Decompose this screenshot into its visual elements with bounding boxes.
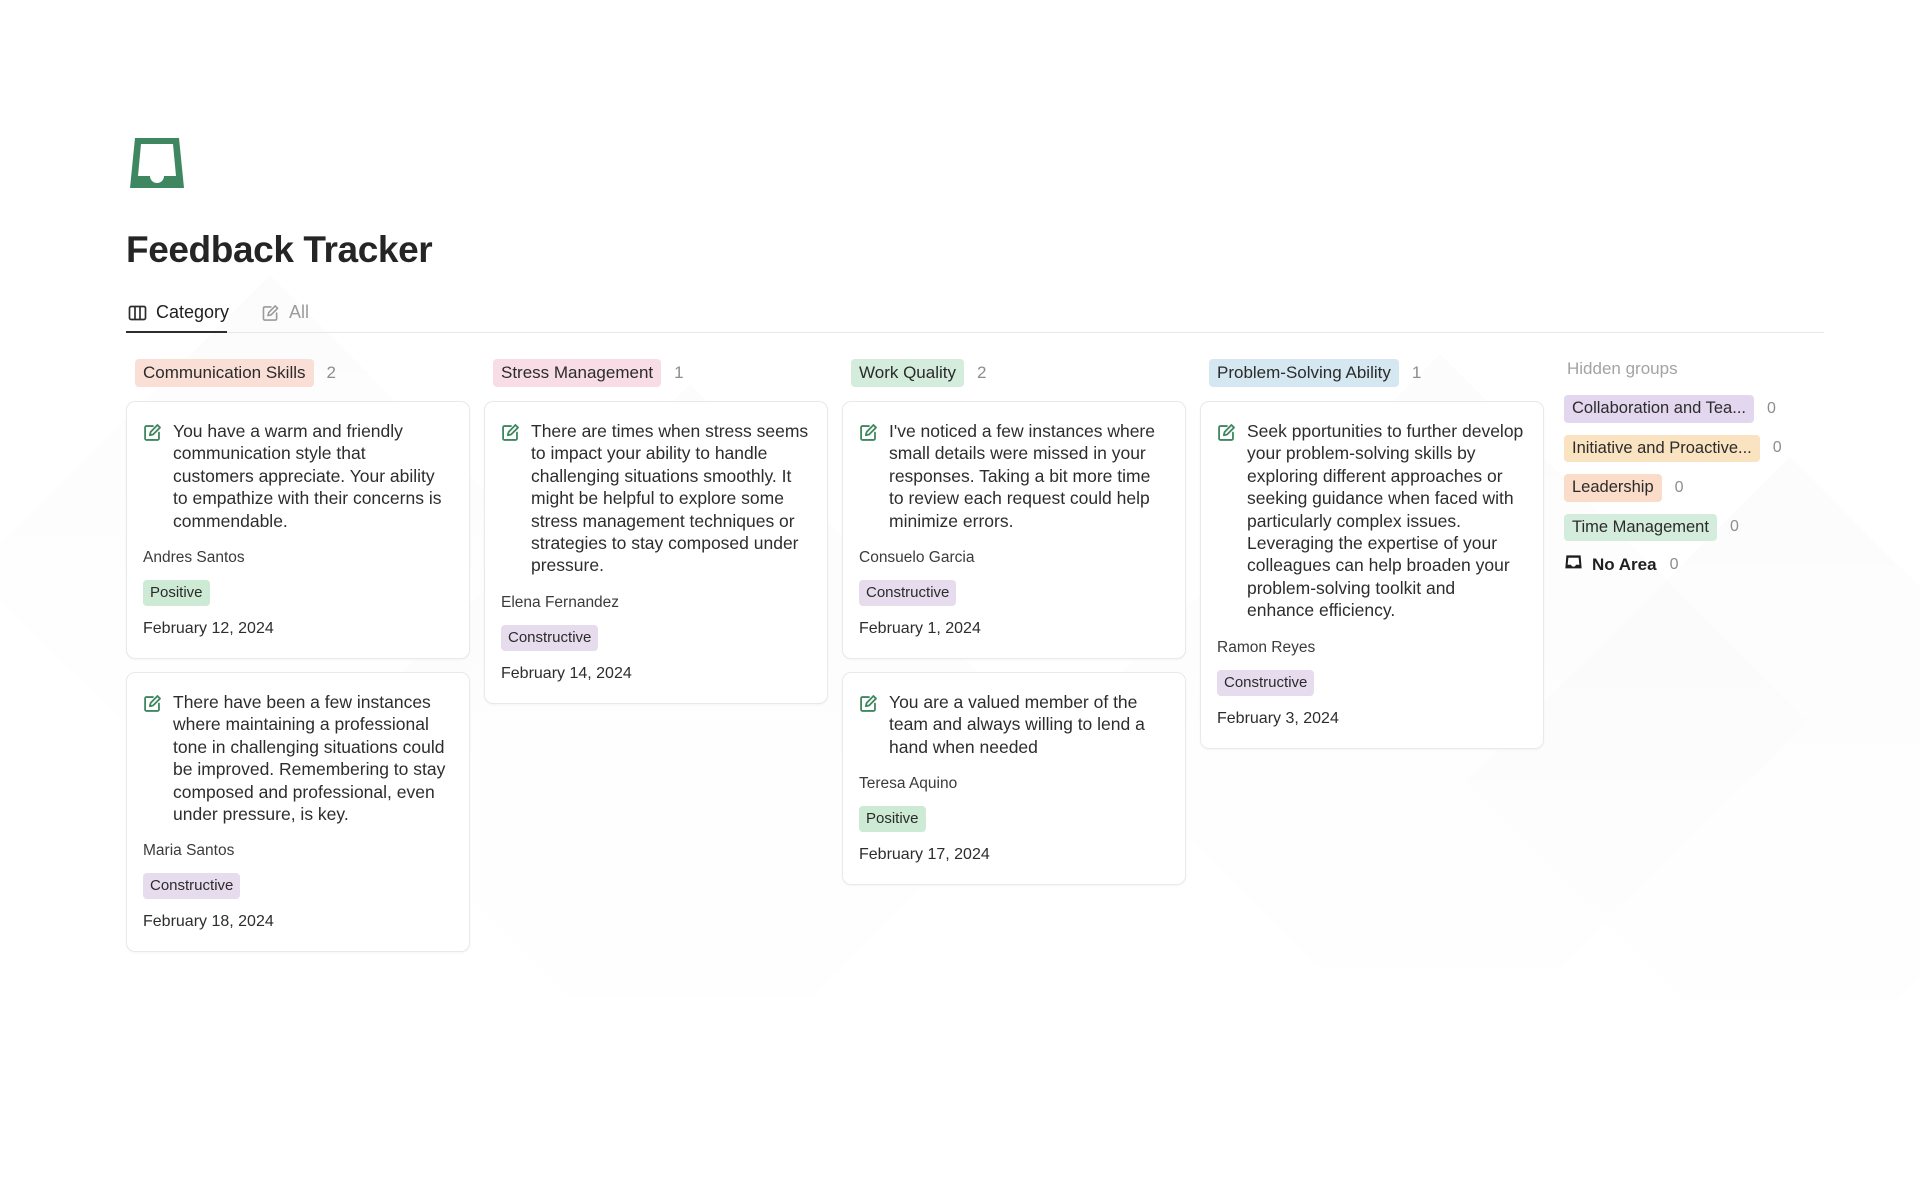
hidden-group-count: 0 <box>1773 439 1782 457</box>
edit-note-icon <box>143 694 162 718</box>
card-date: February 3, 2024 <box>1217 710 1525 728</box>
hidden-group-count: 0 <box>1767 400 1776 418</box>
inbox-icon <box>1564 553 1583 576</box>
column-name-chip: Problem-Solving Ability <box>1209 359 1399 387</box>
board-column: Communication Skills2You have a warm and… <box>126 359 484 965</box>
card-author: Maria Santos <box>143 842 451 860</box>
page-title: Feedback Tracker <box>126 229 1920 271</box>
hidden-group-count: 0 <box>1730 518 1739 536</box>
edit-note-icon <box>143 423 162 447</box>
tab-category-label: Category <box>156 302 229 323</box>
column-header[interactable]: Work Quality2 <box>842 359 1186 387</box>
card-main: Seek pportunities to further develop you… <box>1217 420 1525 622</box>
board-column: Stress Management1There are times when s… <box>484 359 842 717</box>
card-date: February 17, 2024 <box>859 846 1167 864</box>
card-sentiment-badge: Constructive <box>859 580 956 606</box>
card-author: Teresa Aquino <box>859 775 1167 793</box>
card-main: There have been a few instances where ma… <box>143 691 451 825</box>
hidden-group-chip: Collaboration and Tea... <box>1564 395 1754 423</box>
edit-note-icon <box>261 304 280 322</box>
card-text: There are times when stress seems to imp… <box>531 420 809 577</box>
card-main: You have a warm and friendly communicati… <box>143 420 451 532</box>
column-count: 1 <box>1412 363 1421 383</box>
tab-all-label: All <box>289 302 309 323</box>
card-author: Elena Fernandez <box>501 594 809 612</box>
card-main: There are times when stress seems to imp… <box>501 420 809 577</box>
card-sentiment-badge: Constructive <box>501 625 598 651</box>
feedback-card[interactable]: You have a warm and friendly communicati… <box>126 401 470 659</box>
edit-note-icon <box>501 423 520 447</box>
card-text: I've noticed a few instances where small… <box>889 420 1167 532</box>
no-area-count: 0 <box>1670 556 1679 574</box>
hidden-groups-title: Hidden groups <box>1564 359 1888 379</box>
column-header[interactable]: Problem-Solving Ability1 <box>1200 359 1544 387</box>
edit-note-icon <box>859 694 878 718</box>
feedback-card[interactable]: There are times when stress seems to imp… <box>484 401 828 704</box>
card-date: February 1, 2024 <box>859 620 1167 638</box>
edit-note-icon <box>859 423 878 447</box>
column-count: 2 <box>327 363 336 383</box>
card-sentiment-badge: Constructive <box>1217 670 1314 696</box>
card-sentiment-badge: Constructive <box>143 873 240 899</box>
board-column: Problem-Solving Ability1Seek pportunitie… <box>1200 359 1558 762</box>
card-text: You have a warm and friendly communicati… <box>173 420 451 532</box>
card-author: Andres Santos <box>143 549 451 567</box>
column-count: 2 <box>977 363 986 383</box>
feedback-card[interactable]: You are a valued member of the team and … <box>842 672 1186 885</box>
inbox-icon <box>126 132 188 194</box>
card-date: February 18, 2024 <box>143 913 451 931</box>
feedback-card[interactable]: Seek pportunities to further develop you… <box>1200 401 1544 749</box>
feedback-card[interactable]: There have been a few instances where ma… <box>126 672 470 952</box>
card-author: Ramon Reyes <box>1217 639 1525 657</box>
hidden-group-count: 0 <box>1675 479 1684 497</box>
column-count: 1 <box>674 363 683 383</box>
kanban-board: Communication Skills2You have a warm and… <box>126 359 1920 965</box>
edit-note-icon <box>1217 423 1236 447</box>
page-root: Feedback Tracker Category <box>0 132 1920 1199</box>
page-content: Feedback Tracker Category <box>0 132 1920 965</box>
hidden-group-chip: Time Management <box>1564 514 1717 542</box>
hidden-group-row[interactable]: Leadership0 <box>1564 474 1888 502</box>
card-main: I've noticed a few instances where small… <box>859 420 1167 532</box>
card-date: February 14, 2024 <box>501 665 809 683</box>
feedback-card[interactable]: I've noticed a few instances where small… <box>842 401 1186 659</box>
column-name-chip: Communication Skills <box>135 359 314 387</box>
column-header[interactable]: Stress Management1 <box>484 359 828 387</box>
card-text: There have been a few instances where ma… <box>173 691 451 825</box>
board-column: Work Quality2I've noticed a few instance… <box>842 359 1200 898</box>
card-text: Seek pportunities to further develop you… <box>1247 420 1525 622</box>
hidden-group-chip: Initiative and Proactive... <box>1564 435 1760 463</box>
columns-icon <box>128 304 147 322</box>
hidden-group-row[interactable]: Time Management0 <box>1564 514 1888 542</box>
card-text: You are a valued member of the team and … <box>889 691 1167 758</box>
tab-category[interactable]: Category <box>126 298 243 332</box>
hidden-group-chip: Leadership <box>1564 474 1662 502</box>
card-sentiment-badge: Positive <box>859 806 926 832</box>
column-header[interactable]: Communication Skills2 <box>126 359 470 387</box>
hidden-group-row[interactable]: Collaboration and Tea...0 <box>1564 395 1888 423</box>
card-date: February 12, 2024 <box>143 620 451 638</box>
view-tabs: Category All <box>126 298 1824 333</box>
column-name-chip: Work Quality <box>851 359 964 387</box>
card-main: You are a valued member of the team and … <box>859 691 1167 758</box>
hidden-group-row-no-area[interactable]: No Area0 <box>1564 553 1888 576</box>
no-area-label: No Area <box>1564 553 1657 576</box>
hidden-groups-panel: Hidden groupsCollaboration and Tea...0In… <box>1558 359 1888 588</box>
tab-all[interactable]: All <box>259 298 323 332</box>
column-name-chip: Stress Management <box>493 359 661 387</box>
card-sentiment-badge: Positive <box>143 580 210 606</box>
hidden-group-row[interactable]: Initiative and Proactive...0 <box>1564 435 1888 463</box>
card-author: Consuelo Garcia <box>859 549 1167 567</box>
